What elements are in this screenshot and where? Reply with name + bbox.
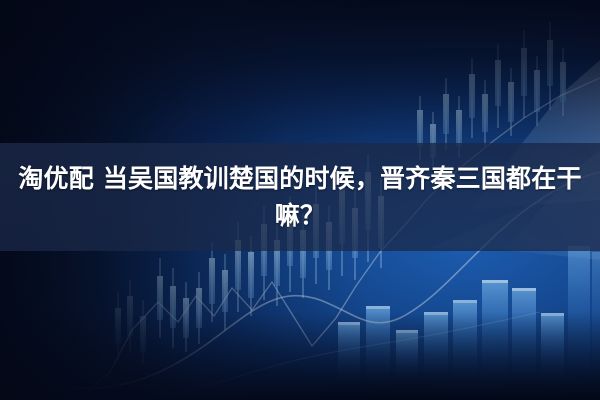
headline-title: 淘优配 当吴国教训楚国的时候，晋齐秦三国都在干嘛？: [7, 160, 593, 234]
headline-banner: 淘优配 当吴国教训楚国的时候，晋齐秦三国都在干嘛？: [0, 143, 600, 251]
image-canvas: 淘优配 当吴国教训楚国的时候，晋齐秦三国都在干嘛？: [0, 0, 600, 400]
